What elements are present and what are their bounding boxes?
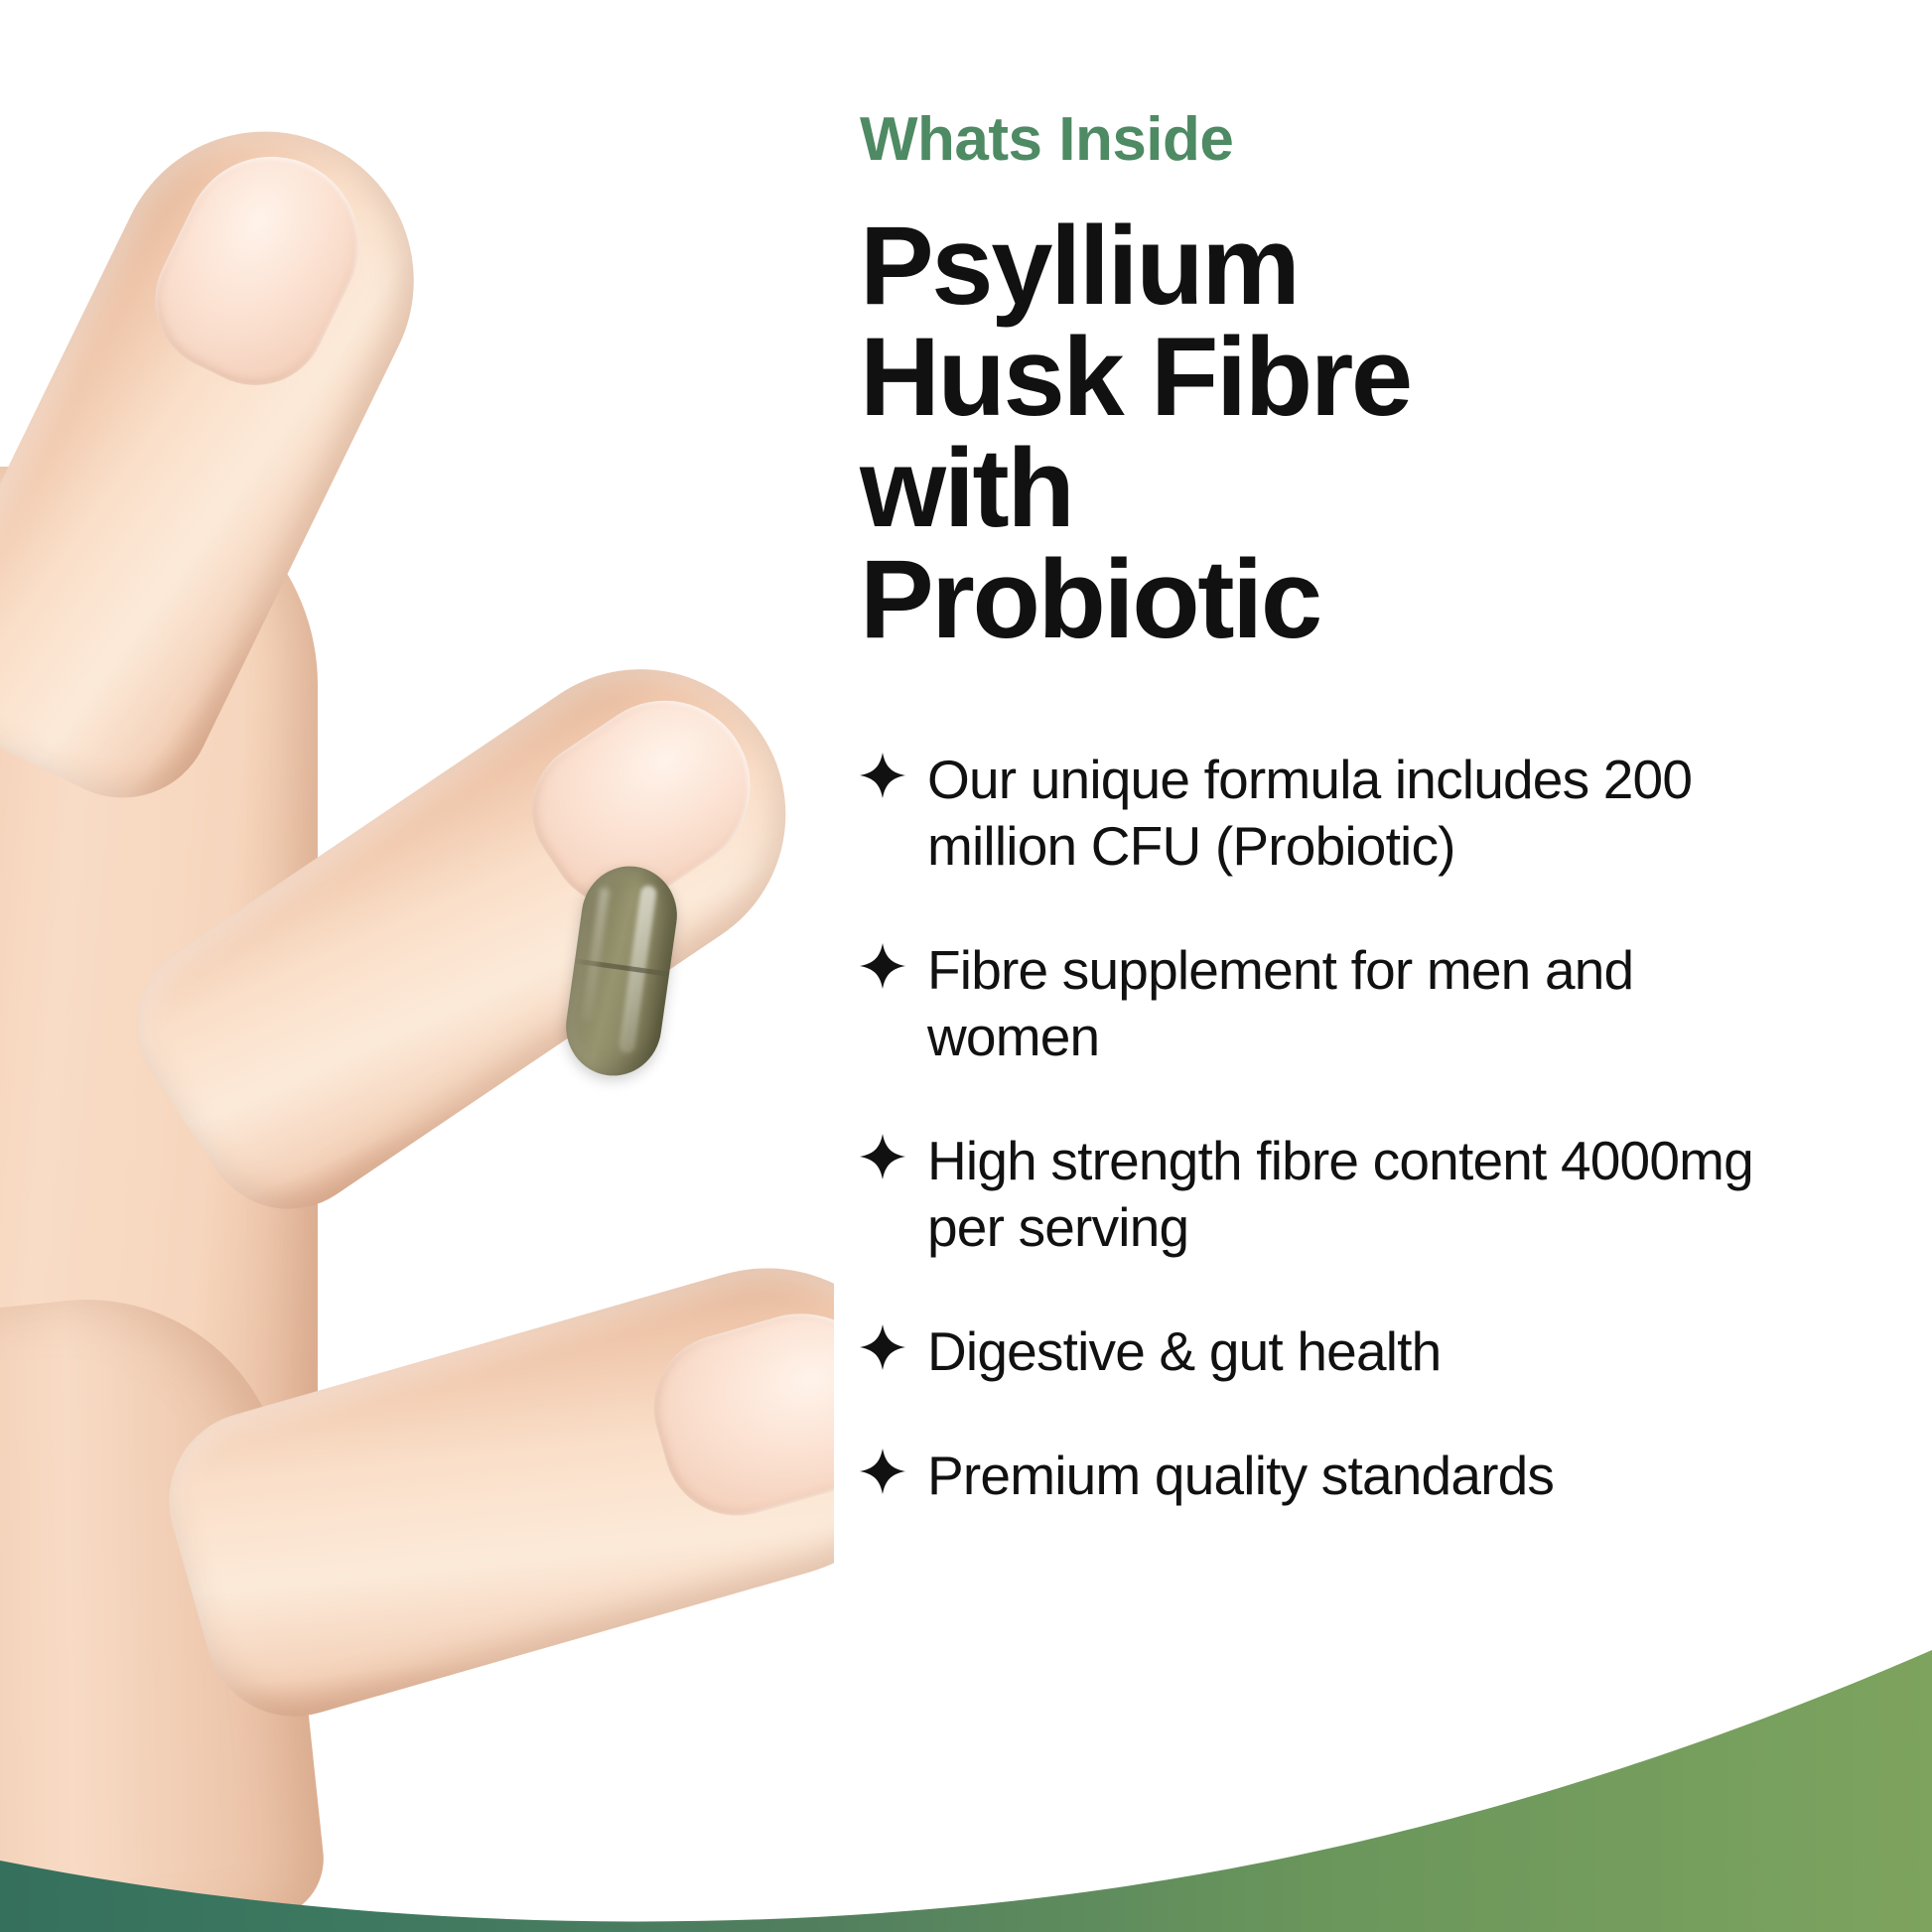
thumb-nail xyxy=(636,1293,834,1533)
capsule-highlight-secondary xyxy=(582,888,611,1023)
list-item-label: High strength fibre content 4000mg per s… xyxy=(927,1128,1813,1261)
sparkle-four-point-icon xyxy=(860,1318,915,1370)
list-item-label: Digestive & gut health xyxy=(927,1318,1813,1385)
list-item: Premium quality standards xyxy=(860,1443,1813,1509)
list-item: Our unique formula includes 200 million … xyxy=(860,747,1813,880)
sparkle-four-point-icon xyxy=(860,747,915,798)
sparkle-four-point-icon xyxy=(860,1443,915,1494)
list-item: High strength fibre content 4000mg per s… xyxy=(860,1128,1813,1261)
hand-icon xyxy=(0,0,834,1932)
index-fingernail xyxy=(131,127,388,409)
sparkle-four-point-icon xyxy=(860,1128,915,1179)
list-item-label: Premium quality standards xyxy=(927,1443,1813,1509)
list-item-label: Fibre supplement for men and women xyxy=(927,937,1813,1070)
sparkle-four-point-icon xyxy=(860,937,915,989)
product-benefits-poster: Whats Inside Psyllium Husk Fibre with Pr… xyxy=(0,0,1932,1932)
list-item: Fibre supplement for men and women xyxy=(860,937,1813,1070)
product-photo-pane xyxy=(0,0,834,1932)
page-title: Psyllium Husk Fibre with Probiotic xyxy=(860,173,1555,655)
eyebrow-label: Whats Inside xyxy=(860,0,1813,173)
list-item-label: Our unique formula includes 200 million … xyxy=(927,747,1813,880)
benefits-list: Our unique formula includes 200 million … xyxy=(860,655,1813,1510)
text-column: Whats Inside Psyllium Husk Fibre with Pr… xyxy=(860,0,1813,1932)
list-item: Digestive & gut health xyxy=(860,1318,1813,1385)
